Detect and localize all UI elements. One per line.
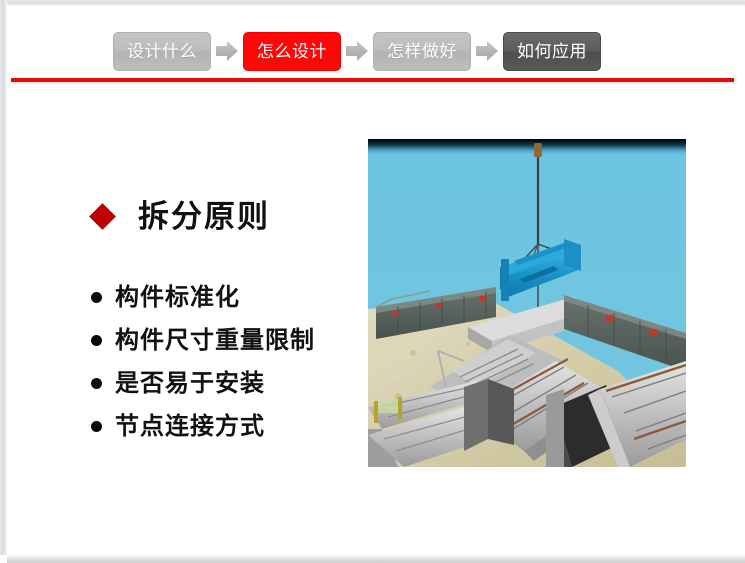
nav-step-1-label: 设计什么 [127, 43, 197, 60]
right-arrow-icon [474, 38, 500, 64]
bullet-dot-icon [91, 378, 102, 389]
list-item: 节点连接方式 [91, 405, 371, 448]
construction-scene-illustration [368, 139, 686, 467]
red-diamond-icon [89, 203, 116, 230]
list-item-label: 节点连接方式 [115, 415, 265, 439]
section-heading: 拆分原则 [93, 201, 270, 232]
red-divider-shadow [11, 82, 734, 85]
principles-list: 构件标准化 构件尺寸重量限制 是否易于安装 节点连接方式 [91, 276, 371, 448]
prefab-construction-render [368, 139, 686, 467]
list-item: 是否易于安装 [91, 362, 371, 405]
list-item-label: 构件尺寸重量限制 [115, 329, 315, 353]
right-arrow-icon [344, 38, 370, 64]
nav-step-4-label: 如何应用 [517, 43, 587, 60]
list-item-label: 构件标准化 [115, 286, 240, 310]
nav-step-3[interactable]: 怎样做好 [373, 32, 471, 71]
list-item-label: 是否易于安装 [115, 372, 265, 396]
list-item: 构件尺寸重量限制 [91, 319, 371, 362]
list-item: 构件标准化 [91, 276, 371, 319]
bullet-dot-icon [91, 335, 102, 346]
nav-step-2-label: 怎么设计 [257, 43, 327, 60]
nav-step-1[interactable]: 设计什么 [113, 32, 211, 71]
bullet-dot-icon [91, 421, 102, 432]
process-steps-nav: 设计什么 怎么设计 怎样做好 如何应用 [113, 30, 601, 72]
slide-border-bottom [7, 554, 745, 563]
bullet-dot-icon [91, 292, 102, 303]
slide-border-left [0, 0, 7, 555]
nav-step-2[interactable]: 怎么设计 [243, 32, 341, 71]
nav-step-4[interactable]: 如何应用 [503, 32, 601, 71]
page-title: 拆分原则 [138, 201, 270, 232]
nav-step-3-label: 怎样做好 [387, 43, 457, 60]
slide-frame: 设计什么 怎么设计 怎样做好 如何应用 [0, 0, 745, 563]
right-arrow-icon [214, 38, 240, 64]
